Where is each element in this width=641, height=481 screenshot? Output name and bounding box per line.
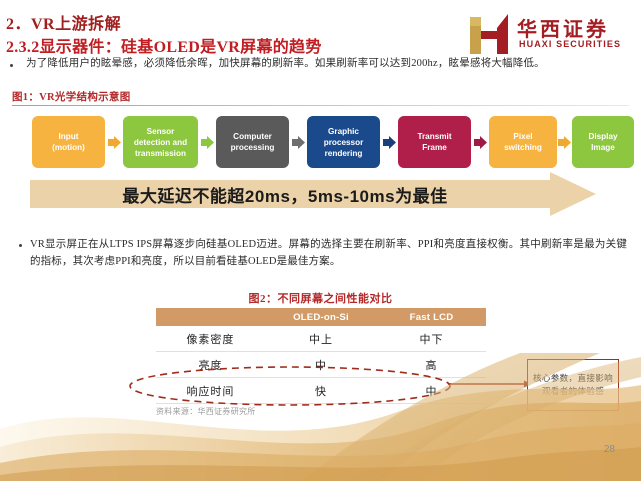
flow-box-input: Input(motion)	[32, 116, 105, 168]
flow-box-graphic-processor: Graphicprocessorrendering	[307, 116, 380, 168]
flow-box-pixel-switching: Pixelswitching	[489, 116, 557, 168]
table-cell-lcd: 中下	[377, 326, 486, 352]
vr-optical-flow-diagram: Input(motion) Sensordetection andtransmi…	[0, 112, 641, 174]
middle-paragraph: VR显示屏正在从LTPS IPS屏幕逐步向硅基OLED迈进。屏幕的选择主要在刷新…	[30, 236, 627, 270]
flow-arrow-icon-6	[558, 136, 571, 149]
table-header-blank	[156, 308, 265, 326]
table-row: 像素密度 中上 中下	[156, 326, 486, 352]
lead-paragraph: 为了降低用户的眩晕感，必须降低余晖，加快屏幕的刷新率。如果刷新率可以达到200h…	[26, 56, 633, 72]
page-number: 28	[604, 444, 615, 455]
bullet-marker-icon-2	[19, 244, 22, 247]
bullet-marker-icon	[10, 64, 13, 67]
flow-box-display-image: DisplayImage	[572, 116, 634, 168]
table-header-row: OLED-on-Si Fast LCD	[156, 308, 486, 326]
table-cell-oled: 中上	[265, 326, 377, 352]
slide-page: 2．VR上游拆解 2.3.2显示器件：硅基OLED是VR屏幕的趋势 为了降低用户…	[0, 0, 641, 481]
decorative-wave-graphic	[0, 351, 641, 481]
figure1-caption: 图1：VR光学结构示意图	[12, 89, 131, 104]
flow-arrow-icon-2	[201, 136, 214, 149]
company-logo: 华西证券 HUAXI SECURITIES	[467, 12, 633, 56]
table-header-oled-on-si: OLED-on-Si	[265, 308, 377, 326]
latency-banner: 最大延迟不能超20ms，5ms-10ms为最佳	[30, 172, 596, 216]
flow-box-transmit-frame: TransmitFrame	[398, 116, 471, 168]
logo-english-name: HUAXI SECURITIES	[519, 39, 621, 49]
huaxi-h-mark-icon	[467, 14, 511, 54]
flow-arrow-icon-5	[474, 136, 487, 149]
flow-arrow-icon-3	[292, 136, 305, 149]
flow-box-computer-processing: Computerprocessing	[216, 116, 289, 168]
figure1-caption-rule	[12, 105, 629, 106]
table-header-fast-lcd: Fast LCD	[377, 308, 486, 326]
page-title-section: 2．VR上游拆解	[6, 10, 121, 34]
flow-box-sensor-detection: Sensordetection andtransmission	[123, 116, 198, 168]
table-cell-row-label: 像素密度	[156, 326, 265, 352]
page-title-subsection: 2.3.2显示器件：硅基OLED是VR屏幕的趋势	[6, 33, 322, 57]
flow-arrow-icon-4	[383, 136, 396, 149]
latency-banner-text: 最大延迟不能超20ms，5ms-10ms为最佳	[30, 172, 540, 216]
figure2-caption: 图2：不同屏幕之间性能对比	[0, 290, 641, 306]
flow-arrow-icon-1	[108, 136, 121, 149]
logo-chinese-name: 华西证券	[517, 13, 609, 42]
